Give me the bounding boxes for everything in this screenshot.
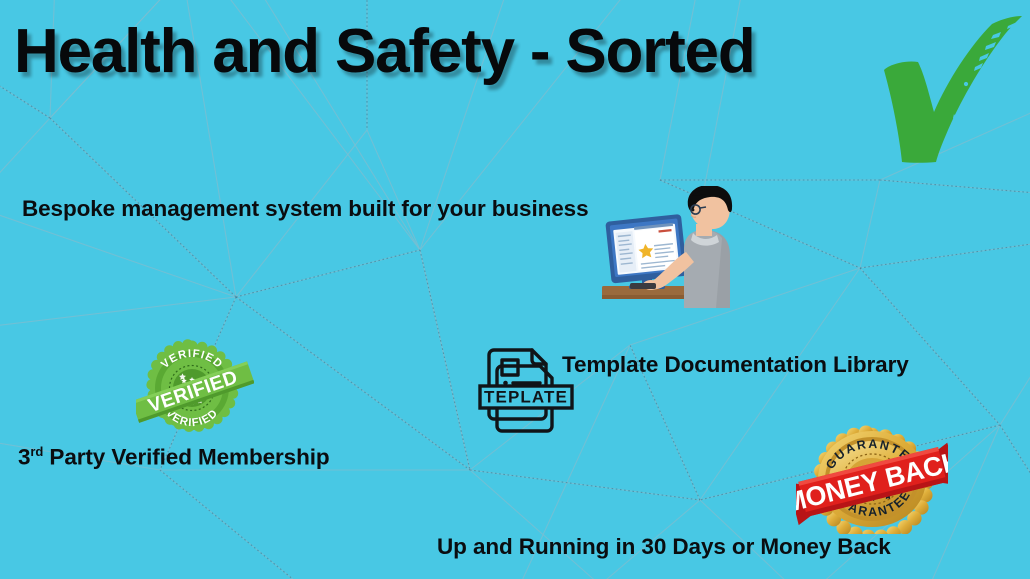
tagline-money-back: Up and Running in 30 Days or Money Back [437,534,891,560]
slide-canvas: Health and Safety - Sorted [0,0,1030,579]
verified-ordinal-number: 3 [18,445,30,470]
verified-rest-label: Party Verified Membership [43,445,329,470]
tagline-bespoke: Bespoke management system built for your… [22,196,589,222]
money-back-guarantee-badge: GUARANTEE GUARANTEE MONEY BACK [796,422,948,534]
tagline-verified-membership: 3rd Party Verified Membership [18,444,330,471]
tagline-template-library: Template Documentation Library [562,352,909,378]
green-check-mark-icon [862,2,1030,172]
template-band-label: TEPLATE [484,388,568,407]
verified-stamp-badge: VERIFIED VERIFIED VERIFIED [136,336,254,438]
page-title: Health and Safety - Sorted [14,16,755,87]
template-document-icon: TEPLATE [476,336,576,436]
verified-ordinal-suffix: rd [30,444,43,459]
person-at-computer-illustration [596,186,746,320]
